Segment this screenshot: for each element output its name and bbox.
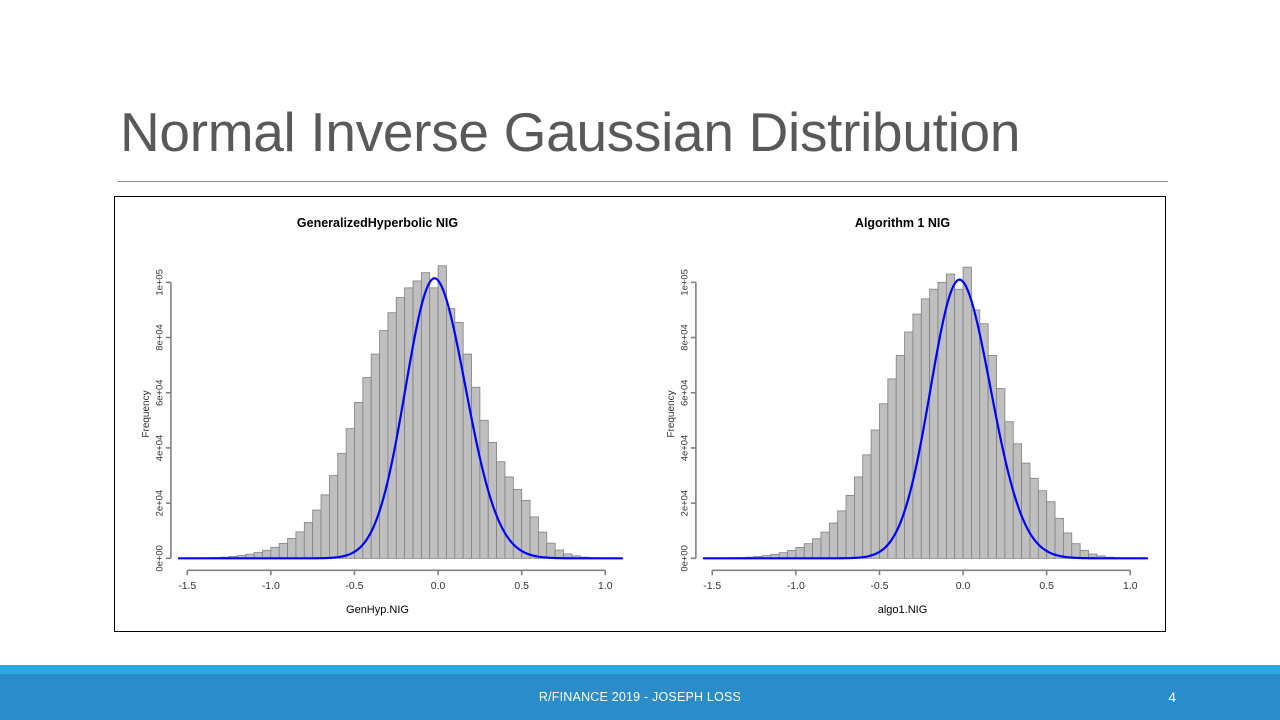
x-axis-tick-label: -1.5 (703, 581, 721, 592)
histogram-bar (905, 332, 913, 558)
y-axis-tick-label: 0e+00 (154, 545, 165, 572)
histogram-bar (271, 547, 279, 558)
histogram-bar (1022, 463, 1030, 558)
histogram-bar (1072, 544, 1080, 559)
x-axis-tick-label: -1.0 (787, 581, 805, 592)
histogram-bar (913, 314, 921, 558)
x-axis-tick-label: -1.0 (262, 581, 280, 592)
histogram-bar (871, 430, 879, 558)
figure-panel: GeneralizedHyperbolic NIG Frequency 0e+0… (114, 196, 1166, 632)
y-axis-tick-label: 1e+05 (679, 269, 690, 296)
plot-algo1: Algorithm 1 NIG Frequency 0e+002e+044e+0… (640, 197, 1165, 631)
y-axis-tick-label: 4e+04 (679, 435, 690, 462)
y-axis-tick-label: 0e+00 (679, 545, 690, 572)
histogram-bar (1030, 478, 1038, 558)
histogram-bar (804, 544, 812, 559)
histogram-bar (497, 462, 505, 559)
histogram-bar (296, 532, 304, 558)
histogram-bar (313, 510, 321, 558)
histogram-bar (421, 273, 429, 559)
histogram-bar (472, 387, 480, 558)
y-axis-tick-label: 6e+04 (154, 379, 165, 406)
slide: Normal Inverse Gaussian Distribution Gen… (0, 0, 1280, 720)
y-axis-tick-label: 2e+04 (154, 490, 165, 517)
histogram-bar (388, 313, 396, 559)
histogram-bar (405, 288, 413, 558)
histogram-bar (380, 331, 388, 559)
x-axis-tick-label: 0.5 (1039, 581, 1054, 592)
histogram-bar (505, 477, 513, 558)
x-axis-tick-label: 0.0 (956, 581, 971, 592)
histogram-bar (363, 378, 371, 559)
x-axis-tick-label: -0.5 (870, 581, 888, 592)
histogram-bar (829, 523, 837, 558)
histogram-bar (879, 404, 887, 559)
title-divider (118, 181, 1168, 182)
histogram-bar (997, 389, 1005, 559)
histogram-bar (438, 266, 446, 559)
x-axis-tick-label: -1.5 (178, 581, 196, 592)
histogram-bar (854, 477, 862, 558)
histogram-bar (321, 495, 329, 558)
histogram-bar (530, 517, 538, 558)
histogram-bar (430, 288, 438, 558)
histogram-bar (446, 309, 454, 559)
histogram-bar (354, 402, 362, 558)
histogram-bar (888, 379, 896, 558)
histogram-bar (304, 522, 312, 558)
plot-canvas-algo1: 0e+002e+044e+046e+048e+041e+05-1.5-1.0-0… (640, 197, 1165, 631)
page-number: 4 (1168, 689, 1176, 705)
histogram-bar (538, 532, 546, 558)
histogram-bar (930, 289, 938, 558)
histogram-bar (1055, 518, 1063, 558)
x-axis-tick-label: -0.5 (345, 581, 363, 592)
histogram-bar (262, 550, 270, 558)
histogram-bar (963, 267, 971, 558)
histogram-bar (338, 453, 346, 558)
histogram-bar (838, 511, 846, 558)
plots-row: GeneralizedHyperbolic NIG Frequency 0e+0… (115, 197, 1165, 631)
histogram-bar (547, 543, 555, 558)
y-axis-tick-label: 4e+04 (154, 435, 165, 462)
histogram-bar (522, 500, 530, 558)
histogram-bar (813, 539, 821, 559)
histogram-bar (787, 550, 795, 558)
y-axis-tick-label: 2e+04 (679, 490, 690, 517)
histogram-bar (955, 289, 963, 558)
histogram-bar (846, 495, 854, 558)
histogram-bar (488, 442, 496, 558)
x-axis-tick-label: 1.0 (1123, 581, 1138, 592)
plot-genhyp: GeneralizedHyperbolic NIG Frequency 0e+0… (115, 197, 640, 631)
y-axis-tick-label: 6e+04 (679, 379, 690, 406)
histogram-bar (288, 538, 296, 558)
page-title: Normal Inverse Gaussian Distribution (120, 98, 1180, 166)
histogram-bar (971, 310, 979, 558)
histogram-bar (279, 543, 287, 558)
x-axis-tick-label: 0.5 (514, 581, 529, 592)
plot-canvas-genhyp: 0e+002e+044e+046e+048e+041e+05-1.5-1.0-0… (115, 197, 640, 631)
footer-accent-bar (0, 665, 1280, 674)
footer-text: R/FINANCE 2019 - JOSEPH LOSS (0, 690, 1280, 704)
y-axis-tick-label: 8e+04 (154, 324, 165, 351)
histogram-bar (863, 455, 871, 559)
histogram-bar (346, 429, 354, 559)
histogram-bar (1063, 533, 1071, 558)
histogram-bar (821, 532, 829, 558)
y-axis-tick-label: 8e+04 (679, 324, 690, 351)
y-axis-tick-label: 1e+05 (154, 269, 165, 296)
histogram-bar (946, 274, 954, 558)
x-axis-tick-label: 1.0 (598, 581, 613, 592)
histogram-bar (1047, 502, 1055, 559)
x-axis-label-genhyp: GenHyp.NIG (115, 604, 640, 616)
histogram-bar (329, 476, 337, 559)
histogram-bar (796, 547, 804, 558)
x-axis-tick-label: 0.0 (431, 581, 446, 592)
x-axis-label-algo1: algo1.NIG (640, 604, 1165, 616)
